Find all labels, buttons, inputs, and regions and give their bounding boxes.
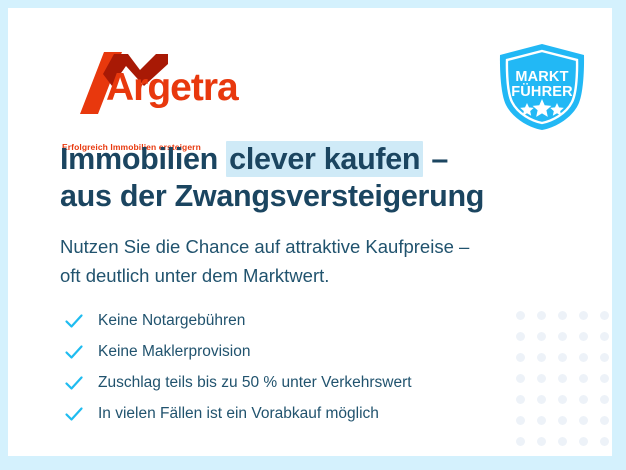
ad-banner: Argetra Erfolgreich Immobilien ersteiger…	[0, 0, 626, 470]
benefits-list: Keine Notargebühren Keine Maklerprovisio…	[62, 305, 532, 429]
headline: Immobilien clever kaufen – aus der Zwang…	[60, 141, 580, 215]
headline-part2: –	[423, 142, 448, 176]
list-item: Keine Maklerprovision	[62, 336, 532, 367]
list-item-label: Zuschlag teils bis zu 50 % unter Verkehr…	[98, 374, 412, 392]
markt-fuehrer-badge: MARKT FÜHRER	[494, 41, 590, 133]
headline-highlight: clever kaufen	[226, 141, 423, 177]
list-item-label: Keine Maklerprovision	[98, 343, 251, 361]
subheadline-line2: oft deutlich unter dem Marktwert.	[60, 265, 329, 286]
ad-card: Argetra Erfolgreich Immobilien ersteiger…	[8, 8, 612, 456]
subheadline-line1: Nutzen Sie die Chance auf attraktive Kau…	[60, 236, 469, 257]
headline-part1: Immobilien	[60, 142, 226, 176]
argetra-logo[interactable]: Argetra Erfolgreich Immobilien ersteiger…	[60, 52, 260, 114]
argetra-roof-logo-icon: Argetra	[60, 52, 260, 114]
check-icon	[64, 311, 84, 331]
check-icon	[64, 342, 84, 362]
badge-line1: MARKT	[515, 69, 568, 85]
list-item: Zuschlag teils bis zu 50 % unter Verkehr…	[62, 367, 532, 398]
list-item-label: In vielen Fällen ist ein Vorabkauf mögli…	[98, 405, 379, 423]
check-icon	[64, 404, 84, 424]
check-icon	[64, 373, 84, 393]
list-item: In vielen Fällen ist ein Vorabkauf mögli…	[62, 398, 532, 429]
subheadline: Nutzen Sie die Chance auf attraktive Kau…	[60, 232, 580, 290]
list-item-label: Keine Notargebühren	[98, 312, 245, 330]
headline-line2: aus der Zwangsversteigerung	[60, 179, 484, 213]
svg-text:Argetra: Argetra	[106, 66, 239, 109]
shield-badge-icon: MARKT FÜHRER	[494, 41, 590, 133]
list-item: Keine Notargebühren	[62, 305, 532, 336]
badge-line2: FÜHRER	[511, 83, 573, 100]
